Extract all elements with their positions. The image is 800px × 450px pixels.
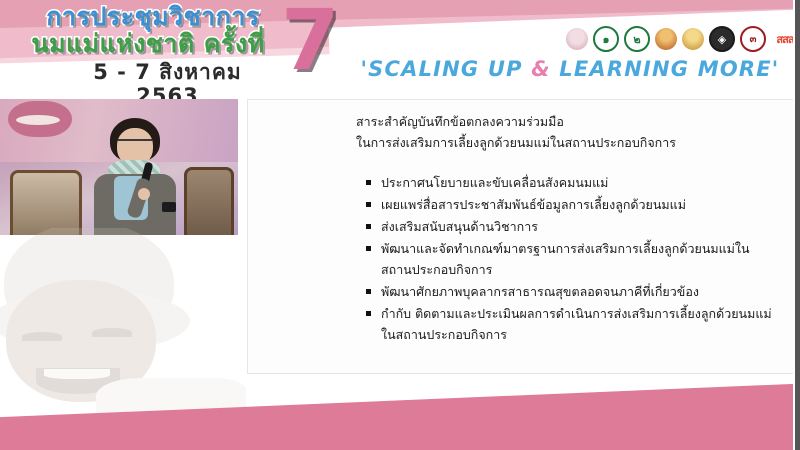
slide-heading: สาระสำคัญบันทึกข้อตกลงความร่วมมือ ในการส… xyxy=(356,111,776,153)
armchair-right xyxy=(184,167,234,235)
list-item: ประกาศนโยบายและขับเคลื่อนสังคมนมแม่ xyxy=(366,172,776,193)
logo-red-university-icon: ๓ xyxy=(740,26,766,52)
logo-green-ministry-2-icon: ๒ xyxy=(624,26,650,52)
list-item: กำกับ ติดตามและประเมินผลการดำเนินการส่งเ… xyxy=(366,303,776,345)
baby-photo-watermark xyxy=(0,228,248,418)
right-edge-border xyxy=(795,0,800,450)
speaker-glasses-icon xyxy=(118,139,152,148)
logo-sss-text: สสส xyxy=(776,30,793,48)
logo-royal-emblem-gold-icon xyxy=(682,28,704,50)
baby-eye-right xyxy=(92,328,132,337)
logo-dark-glyph: ◈ xyxy=(718,33,726,46)
backdrop-mouth-graphic xyxy=(8,101,72,137)
logo-royal-emblem-orange-icon xyxy=(655,28,677,50)
list-item: พัฒนาศักยภาพบุคลากรสาธารณสุขตลอดจนภาคีที… xyxy=(366,281,776,302)
logo-thai-breastfeeding-foundation-icon xyxy=(566,28,588,50)
slogan-part-open: 'SCALING UP xyxy=(361,57,532,81)
logo-dark-garuda-icon: ◈ xyxy=(709,26,735,52)
baby-eye-left xyxy=(22,332,62,341)
bottom-strip xyxy=(0,436,800,450)
edition-number: 7 xyxy=(281,0,339,82)
slide-heading-line1: สาระสำคัญบันทึกข้อตกลงความร่วมมือ xyxy=(356,111,776,132)
logo-green-ministry-1-icon: ๑ xyxy=(593,26,619,52)
speaker-hand xyxy=(138,188,150,200)
list-item: ส่งเสริมสนับสนุนด้านวิชาการ xyxy=(366,216,776,237)
baby-teeth xyxy=(44,369,110,379)
speaker-figure xyxy=(86,118,182,235)
logo-green-2-glyph: ๒ xyxy=(633,30,640,48)
armchair-left xyxy=(10,170,82,235)
logo-green-1-glyph: ๑ xyxy=(603,30,610,48)
sponsor-logo-strip: ๑ ๒ ◈ ๓ สสส xyxy=(566,26,796,52)
list-item: เผยแพร่สื่อสารประชาสัมพันธ์ข้อมูลการเลี้… xyxy=(366,194,776,215)
slogan-part-close: LEARNING MORE' xyxy=(551,57,780,81)
slide-bullet-list: ประกาศนโยบายและขับเคลื่อนสังคมนมแม่ เผยแ… xyxy=(366,172,776,346)
list-item: พัฒนาและจัดทำเกณฑ์มาตรฐานการส่งเสริมการเ… xyxy=(366,238,776,280)
slogan-ampersand: & xyxy=(531,57,551,81)
speaker-video-panel[interactable] xyxy=(0,99,238,235)
presentation-slide: การประชุมวิชาการ นมแม่แห่งชาติ ครั้งที่ … xyxy=(0,0,800,450)
presentation-clicker-icon xyxy=(162,202,176,212)
slide-content-panel: สาระสำคัญบันทึกข้อตกลงความร่วมมือ ในการส… xyxy=(247,99,795,374)
conference-slogan: 'SCALING UP & LEARNING MORE' xyxy=(350,57,790,81)
logo-red-glyph: ๓ xyxy=(750,32,757,47)
conference-title-line1: การประชุมวิชาการ xyxy=(18,3,288,31)
slide-heading-line2: ในการส่งเสริมการเลี้ยงลูกด้วยนมแม่ในสถาน… xyxy=(356,132,776,153)
conference-title-block: การประชุมวิชาการ นมแม่แห่งชาติ ครั้งที่ … xyxy=(0,0,300,92)
conference-title-line2: นมแม่แห่งชาติ ครั้งที่ xyxy=(8,30,288,58)
